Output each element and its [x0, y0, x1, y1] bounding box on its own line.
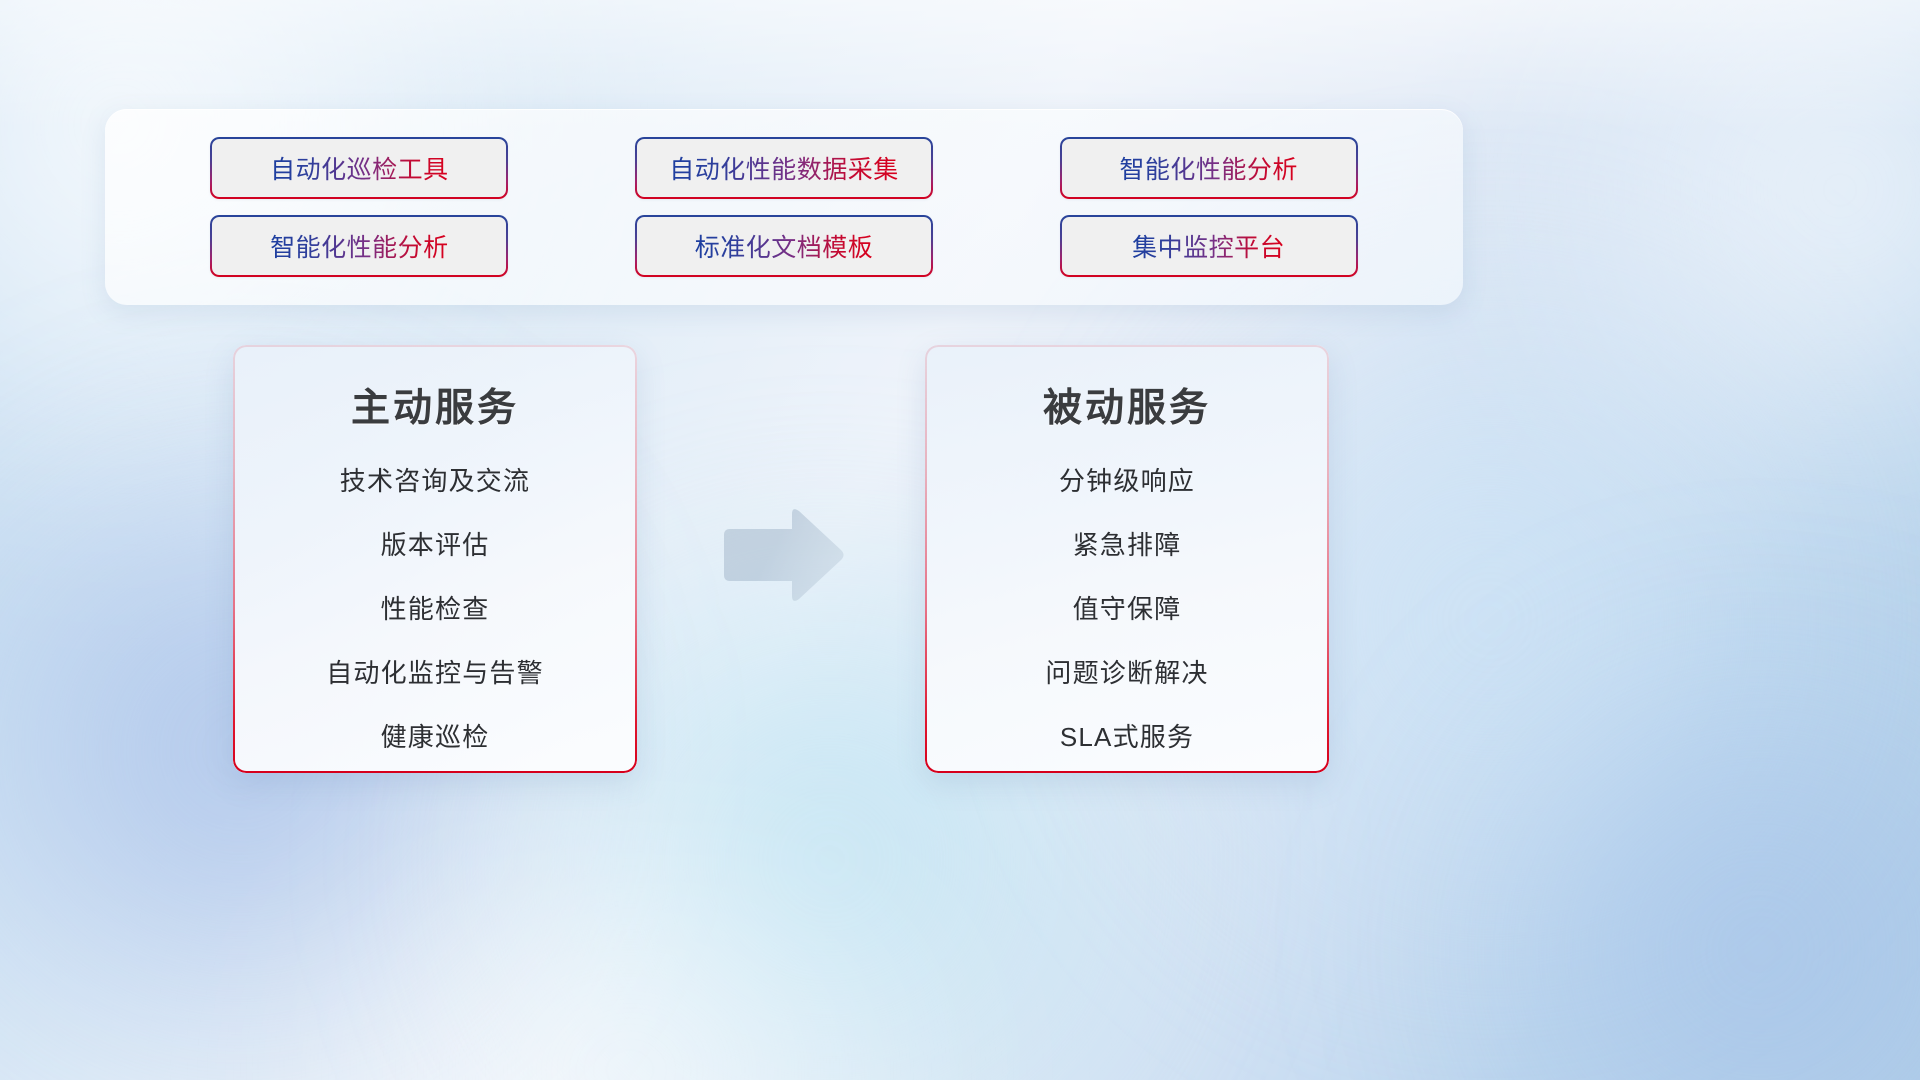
capability-pill-label: 自动化巡检工具 [270, 150, 449, 186]
list-item: 版本评估 [381, 525, 490, 562]
list-item: 技术咨询及交流 [340, 461, 530, 498]
capability-pill-label: 集中监控平台 [1132, 228, 1285, 264]
capability-pill-label: 智能化性能分析 [1119, 150, 1298, 186]
capability-pill[interactable]: 自动化巡检工具 [210, 137, 508, 199]
list-item: SLA式服务 [1060, 717, 1194, 754]
capability-pill[interactable]: 智能化性能分析 [1060, 137, 1358, 199]
capability-pill-label: 智能化性能分析 [270, 228, 449, 264]
list-item: 健康巡检 [381, 717, 490, 754]
list-item: 紧急排障 [1073, 525, 1182, 562]
capability-pill[interactable]: 集中监控平台 [1060, 215, 1358, 277]
service-card-title: 主动服务 [263, 377, 607, 433]
service-card-passive: 被动服务 分钟级响应 紧急排障 值守保障 问题诊断解决 SLA式服务 [925, 345, 1329, 773]
service-card-title: 被动服务 [955, 377, 1299, 433]
capability-pill-label: 标准化文档模板 [695, 228, 874, 264]
list-item: 分钟级响应 [1059, 461, 1195, 498]
service-card-active: 主动服务 技术咨询及交流 版本评估 性能检查 自动化监控与告警 健康巡检 [233, 345, 637, 773]
list-item: 值守保障 [1073, 589, 1182, 626]
arrow-right-icon [718, 505, 848, 605]
list-item: 问题诊断解决 [1045, 653, 1208, 690]
capability-pill[interactable]: 标准化文档模板 [635, 215, 933, 277]
list-item: 自动化监控与告警 [326, 653, 544, 690]
service-card-list: 分钟级响应 紧急排障 值守保障 问题诊断解决 SLA式服务 [955, 461, 1299, 760]
capability-pill-label: 自动化性能数据采集 [669, 150, 899, 186]
list-item: 性能检查 [381, 589, 490, 626]
service-card-list: 技术咨询及交流 版本评估 性能检查 自动化监控与告警 健康巡检 [263, 461, 607, 760]
capability-panel: 自动化巡检工具 自动化性能数据采集 智能化性能分析 智能化性能分析 标准化文档模… [105, 109, 1463, 305]
capability-pill[interactable]: 智能化性能分析 [210, 215, 508, 277]
capability-pill[interactable]: 自动化性能数据采集 [635, 137, 933, 199]
